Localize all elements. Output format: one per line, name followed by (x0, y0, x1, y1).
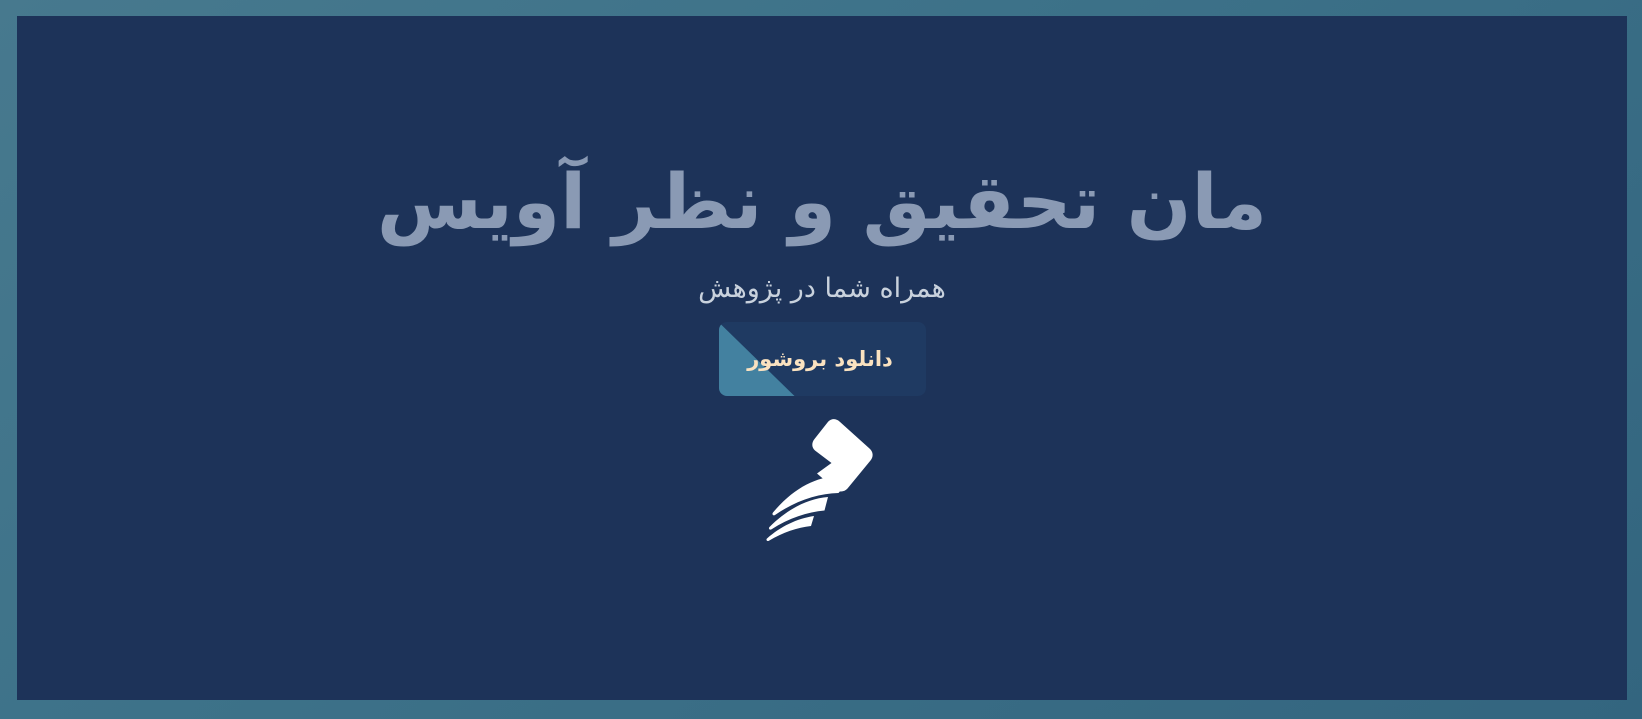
download-brochure-label: دانلود بروشور (747, 347, 897, 371)
hero-panel: مان تحقیق و نظر آویس همراه شما در پژوهش … (17, 16, 1627, 700)
page-title: مان تحقیق و نظر آویس (17, 157, 1627, 247)
cta-container: دانلود بروشور (17, 322, 1627, 396)
page-frame: مان تحقیق و نظر آویس همراه شما در پژوهش … (0, 0, 1642, 719)
avis-swoosh-logo-icon (755, 412, 890, 542)
download-brochure-button[interactable]: دانلود بروشور (719, 322, 926, 396)
logo-container (17, 412, 1627, 542)
hero-subtitle: همراه شما در پژوهش (17, 270, 1627, 308)
